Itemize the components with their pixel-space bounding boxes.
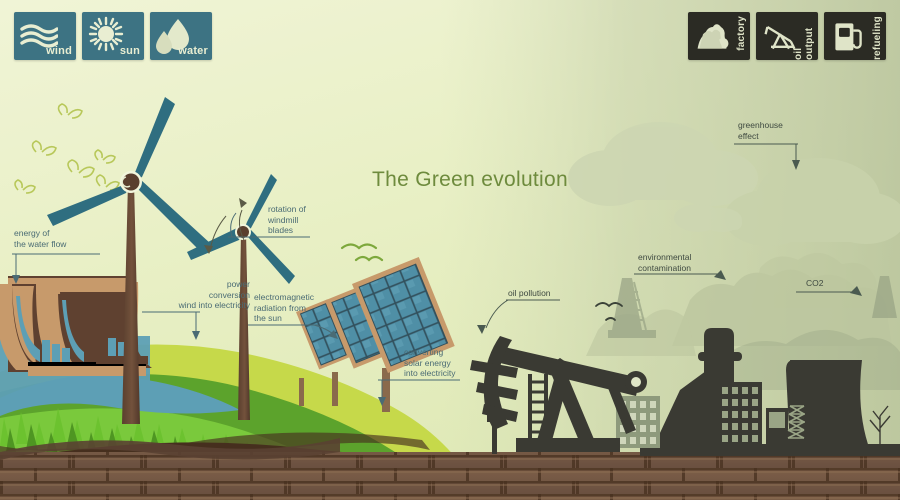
badge-refueling-label: refueling <box>872 16 883 60</box>
factory-icon <box>694 18 730 54</box>
annotation-rotation: rotation of windmill blades <box>268 204 306 236</box>
infographic-canvas: The Green evolution wind sun <box>0 0 900 500</box>
fuel-pump-screen <box>769 412 785 428</box>
scene-illustration <box>0 0 900 500</box>
badge-factory[interactable]: factory <box>688 12 750 60</box>
badge-water[interactable]: water <box>150 12 212 60</box>
eco-badge-row: wind sun water <box>14 12 212 60</box>
badge-water-label: water <box>178 45 208 57</box>
badge-oil-output[interactable]: oil output <box>756 12 818 60</box>
badge-sun[interactable]: sun <box>82 12 144 60</box>
annotation-power-conversion: power conversion wind into electricity <box>140 279 250 311</box>
annotation-oil-pollution: oil pollution <box>508 288 551 299</box>
badge-oil-output-label: oil output <box>793 16 815 60</box>
badge-wind[interactable]: wind <box>14 12 76 60</box>
annotation-greenhouse-effect: greenhouse effect <box>738 120 783 141</box>
annotation-environmental-contamination: environmental contamination <box>638 252 691 273</box>
badge-refueling[interactable]: refueling <box>824 12 886 60</box>
badge-wind-label: wind <box>46 45 72 57</box>
fossil-badge-row: factory oil output refueling <box>688 12 886 60</box>
annotation-solar-conversion: converting solar energy into electricity <box>404 347 456 379</box>
annotation-water-flow: energy of the water flow <box>14 228 66 249</box>
annotation-electromagnetic: electromagnetic radiation from the sun <box>254 292 314 324</box>
badge-sun-label: sun <box>120 45 140 57</box>
fuel-pump-icon <box>830 18 866 54</box>
badge-factory-label: factory <box>736 16 747 51</box>
annotation-co2: CO2 <box>806 278 823 289</box>
page-title: The Green evolution <box>372 168 568 192</box>
